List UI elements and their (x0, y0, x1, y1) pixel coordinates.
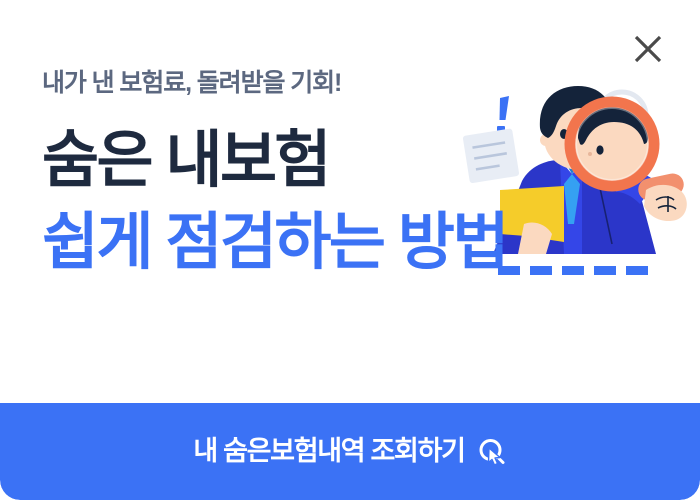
search-cursor-icon (477, 437, 507, 467)
cta-lookup-button[interactable]: 내 숨은보험내역 조회하기 (0, 403, 700, 500)
promo-banner-card: 내가 낸 보험료, 돌려받을 기회! 숨은 내보험 쉽게 점검하는 방법 내 숨… (0, 0, 700, 500)
headline-line-1: 숨은 내보험 (42, 120, 507, 202)
cta-button-label: 내 숨은보험내역 조회하기 (193, 438, 464, 465)
banner-text-block: 내가 낸 보험료, 돌려받을 기회! 숨은 내보험 쉽게 점검하는 방법 (42, 68, 507, 284)
banner-eyebrow: 내가 낸 보험료, 돌려받을 기회! (42, 68, 507, 98)
headline-line-2: 쉽게 점검하는 방법 (42, 202, 507, 284)
close-icon[interactable] (629, 30, 667, 68)
banner-headline: 숨은 내보험 쉽게 점검하는 방법 (42, 120, 507, 284)
close-icon-glyph (629, 30, 667, 68)
dashed-baseline (498, 266, 648, 275)
